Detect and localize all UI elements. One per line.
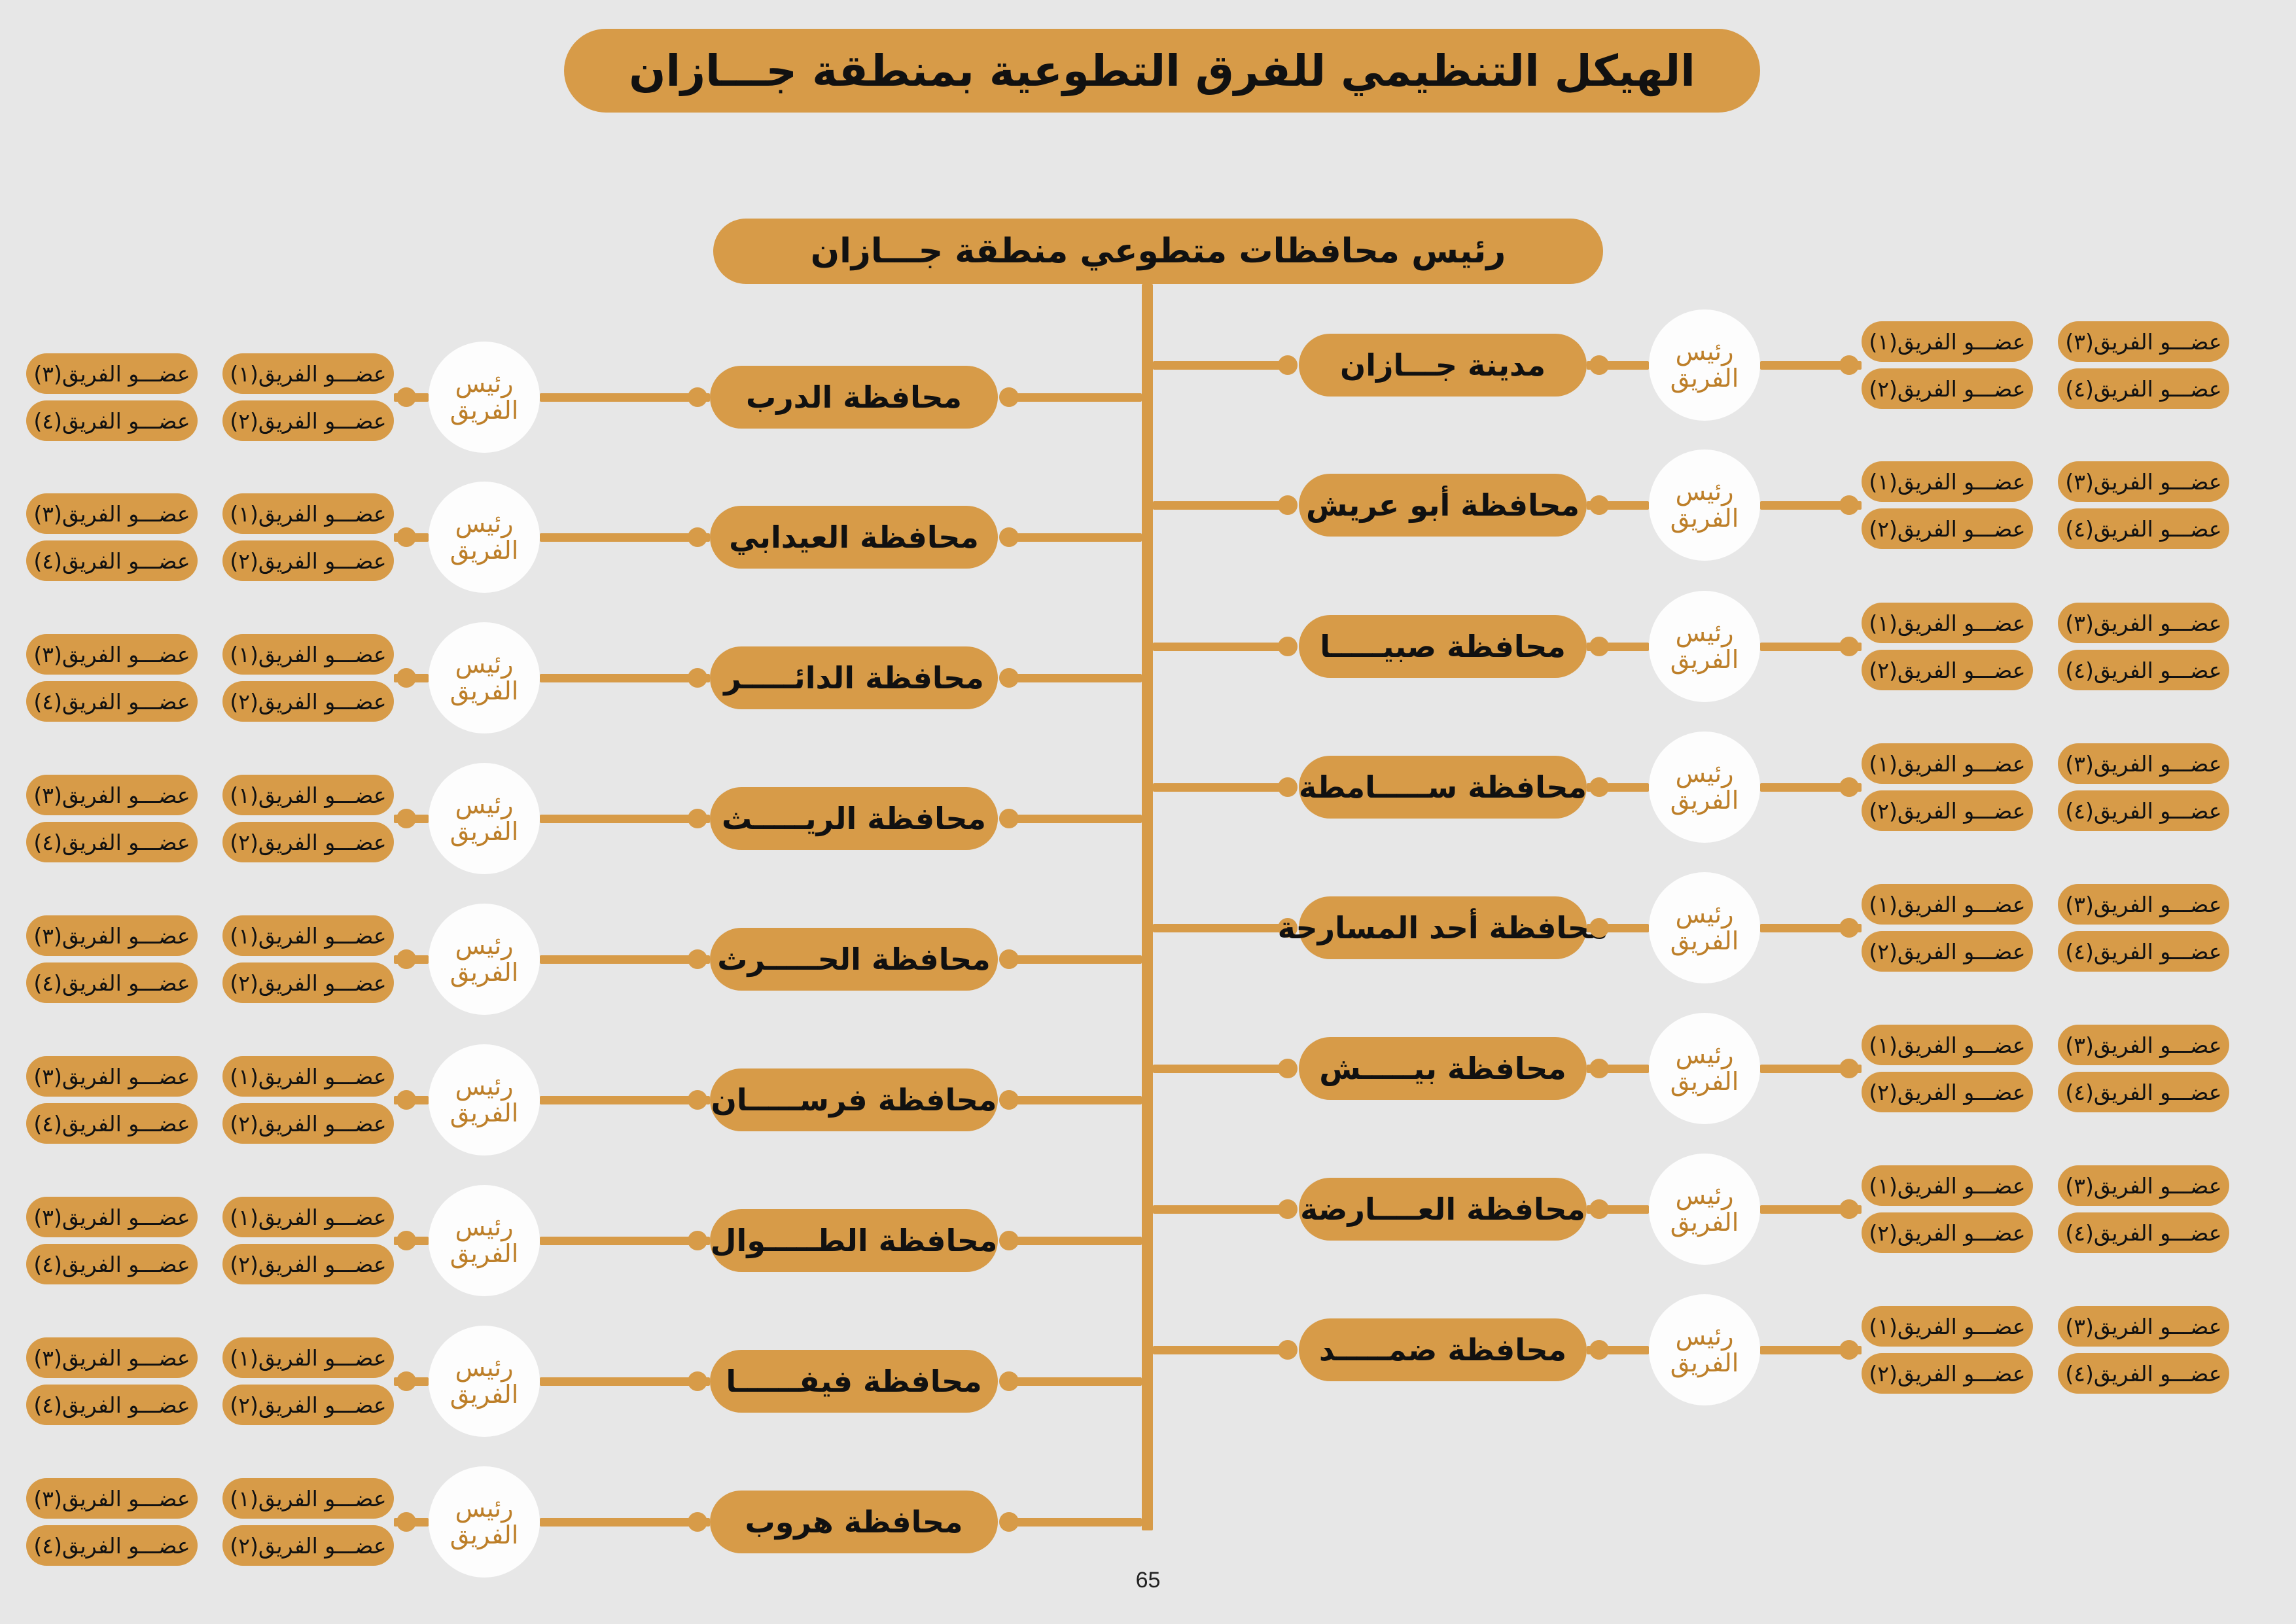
member-pill-left-5-2[interactable]: عضـــو الفريق(٢) (222, 1103, 394, 1144)
member-dot-right-3 (1839, 777, 1859, 797)
leader-label-line2: الفريق (450, 959, 519, 986)
member-pill-right-2-3[interactable]: عضـــو الفريق(٣) (2058, 603, 2229, 643)
leader-label-line1: رئيس (455, 1214, 514, 1241)
leader-dot-left-1 (688, 527, 707, 547)
member-pill-right-1-2[interactable]: عضـــو الفريق(٢) (1862, 508, 2033, 549)
leader-line-left-1 (540, 533, 710, 542)
page-title: الهيكل التنظيمي للفرق التطوعية بمنطقة جـ… (564, 29, 1760, 113)
member-pill-left-0-3[interactable]: عضـــو الفريق(٣) (26, 353, 198, 394)
branch-line-left-6 (1010, 1237, 1142, 1245)
member-pill-left-7-1[interactable]: عضـــو الفريق(١) (222, 1337, 394, 1378)
leader-circle-left-1[interactable]: رئيسالفريق (429, 482, 540, 593)
member-pill-right-0-3[interactable]: عضـــو الفريق(٣) (2058, 321, 2229, 362)
leader-dot-left-8 (688, 1512, 707, 1532)
member-dot-left-2 (397, 668, 416, 688)
leader-circle-left-7[interactable]: رئيسالفريق (429, 1326, 540, 1437)
member-pill-left-5-4[interactable]: عضـــو الفريق(٤) (26, 1103, 198, 1144)
leader-label-line2: الفريق (450, 1381, 519, 1408)
governorate-pill-left-4[interactable]: محافظة الحـــــرث (710, 928, 998, 991)
leader-line-left-5 (540, 1096, 710, 1104)
leader-circle-left-2[interactable]: رئيسالفريق (429, 622, 540, 733)
governorate-pill-right-7[interactable]: محافظة ضمـــــد (1299, 1318, 1587, 1381)
leader-label-line1: رئيس (455, 1073, 514, 1100)
branch-line-left-8 (1010, 1518, 1142, 1527)
member-pill-right-6-2[interactable]: عضـــو الفريق(٢) (1862, 1212, 2033, 1253)
leader-label-line2: الفريق (1670, 928, 1739, 955)
governorate-pill-right-2[interactable]: محافظة صبيـــــا (1299, 615, 1587, 678)
member-pill-left-8-1[interactable]: عضـــو الفريق(١) (222, 1478, 394, 1519)
leader-label-line2: الفريق (450, 1100, 519, 1127)
leader-label-line2: الفريق (450, 537, 519, 564)
member-pill-left-1-1[interactable]: عضـــو الفريق(١) (222, 493, 394, 534)
member-dot-left-5 (397, 1090, 416, 1110)
member-dot-right-1 (1839, 495, 1859, 515)
member-pill-right-5-3[interactable]: عضـــو الفريق(٣) (2058, 1025, 2229, 1065)
member-pill-right-1-1[interactable]: عضـــو الفريق(١) (1862, 461, 2033, 502)
branch-line-left-3 (1010, 815, 1142, 823)
branch-line-right-1 (1153, 501, 1287, 510)
governorate-pill-right-6[interactable]: محافظة العــــارضة (1299, 1178, 1587, 1241)
governorate-pill-left-3[interactable]: محافظة الريـــــث (710, 787, 998, 850)
org-chart-canvas: الهيكل التنظيمي للفرق التطوعية بمنطقة جـ… (0, 0, 2296, 1624)
member-pill-left-2-2[interactable]: عضـــو الفريق(٢) (222, 681, 394, 722)
member-pill-left-2-3[interactable]: عضـــو الفريق(٣) (26, 634, 198, 675)
leader-label-line2: الفريق (450, 1241, 519, 1267)
leader-label-line1: رئيس (1676, 478, 1734, 505)
member-pill-left-4-3[interactable]: عضـــو الفريق(٣) (26, 915, 198, 956)
member-dot-right-0 (1839, 355, 1859, 375)
leader-circle-right-6[interactable]: رئيسالفريق (1649, 1154, 1760, 1265)
governorate-pill-left-0[interactable]: محافظة الدرب (710, 366, 998, 429)
governorate-pill-right-3[interactable]: محافظة ســـــامطة (1299, 756, 1587, 819)
leader-dot-left-7 (688, 1371, 707, 1391)
member-pill-left-3-4[interactable]: عضـــو الفريق(٤) (26, 822, 198, 862)
leader-circle-left-4[interactable]: رئيسالفريق (429, 904, 540, 1015)
branch-dot-right-0 (1278, 355, 1298, 375)
branch-line-right-4 (1153, 924, 1287, 932)
leader-label-line1: رئيس (1676, 1323, 1734, 1350)
leader-line-left-2 (540, 674, 710, 682)
member-dot-left-1 (397, 527, 416, 547)
member-pill-right-6-3[interactable]: عضـــو الفريق(٣) (2058, 1165, 2229, 1206)
member-dot-left-0 (397, 387, 416, 407)
leader-line-left-0 (540, 393, 710, 402)
leader-dot-left-4 (688, 949, 707, 969)
branch-dot-right-3 (1278, 777, 1298, 797)
member-pill-right-3-4[interactable]: عضـــو الفريق(٤) (2058, 790, 2229, 831)
branch-dot-right-2 (1278, 637, 1298, 656)
governorate-pill-right-0[interactable]: مدينة جـــازان (1299, 334, 1587, 397)
leader-line-left-4 (540, 955, 710, 964)
member-pill-left-1-3[interactable]: عضـــو الفريق(٣) (26, 493, 198, 534)
member-pill-left-6-4[interactable]: عضـــو الفريق(٤) (26, 1244, 198, 1284)
member-dot-right-4 (1839, 918, 1859, 938)
leader-circle-right-5[interactable]: رئيسالفريق (1649, 1013, 1760, 1124)
member-pill-right-4-4[interactable]: عضـــو الفريق(٤) (2058, 931, 2229, 972)
leader-label-line1: رئيس (455, 370, 514, 397)
branch-dot-left-6 (999, 1231, 1019, 1250)
member-pill-left-0-2[interactable]: عضـــو الفريق(٢) (222, 400, 394, 441)
leader-label-line1: رئيس (1676, 338, 1734, 365)
leader-circle-right-7[interactable]: رئيسالفريق (1649, 1294, 1760, 1405)
member-pill-right-0-1[interactable]: عضـــو الفريق(١) (1862, 321, 2033, 362)
leader-circle-left-5[interactable]: رئيسالفريق (429, 1044, 540, 1156)
branch-line-left-5 (1010, 1096, 1142, 1104)
member-pill-right-7-1[interactable]: عضـــو الفريق(١) (1862, 1306, 2033, 1347)
member-pill-left-1-4[interactable]: عضـــو الفريق(٤) (26, 540, 198, 581)
member-pill-left-0-4[interactable]: عضـــو الفريق(٤) (26, 400, 198, 441)
branch-line-right-5 (1153, 1065, 1287, 1073)
leader-dot-right-5 (1589, 1059, 1609, 1078)
branch-line-left-2 (1010, 674, 1142, 682)
leader-circle-right-2[interactable]: رئيسالفريق (1649, 591, 1760, 702)
member-dot-right-6 (1839, 1199, 1859, 1219)
leader-label-line2: الفريق (1670, 1068, 1739, 1095)
governorate-pill-left-6[interactable]: محافظة الطـــــوال (710, 1209, 998, 1272)
member-pill-right-6-1[interactable]: عضـــو الفريق(١) (1862, 1165, 2033, 1206)
leader-label-line2: الفريق (450, 819, 519, 845)
branch-line-right-2 (1153, 643, 1287, 651)
governorate-pill-left-5[interactable]: محافظة فرســـــان (710, 1068, 998, 1131)
leader-dot-right-7 (1589, 1340, 1609, 1360)
leader-label-line2: الفريق (1670, 1209, 1739, 1236)
leader-dot-left-3 (688, 809, 707, 828)
leader-label-line2: الفريق (1670, 1350, 1739, 1377)
spine-connector (1142, 284, 1153, 1530)
branch-dot-left-1 (999, 527, 1019, 547)
member-pill-left-0-1[interactable]: عضـــو الفريق(١) (222, 353, 394, 394)
member-pill-left-8-2[interactable]: عضـــو الفريق(٢) (222, 1525, 394, 1566)
member-pill-left-7-3[interactable]: عضـــو الفريق(٣) (26, 1337, 198, 1378)
branch-dot-left-3 (999, 809, 1019, 828)
member-pill-right-1-3[interactable]: عضـــو الفريق(٣) (2058, 461, 2229, 502)
member-pill-right-7-3[interactable]: عضـــو الفريق(٣) (2058, 1306, 2229, 1347)
member-pill-right-7-2[interactable]: عضـــو الفريق(٢) (1862, 1353, 2033, 1394)
governorate-pill-left-7[interactable]: محافظة فيفــــــا (710, 1350, 998, 1413)
member-pill-left-6-1[interactable]: عضـــو الفريق(١) (222, 1197, 394, 1237)
branch-dot-right-1 (1278, 495, 1298, 515)
branch-dot-left-8 (999, 1512, 1019, 1532)
member-pill-left-4-4[interactable]: عضـــو الفريق(٤) (26, 962, 198, 1003)
member-dot-right-5 (1839, 1059, 1859, 1078)
leader-label-line2: الفريق (1670, 505, 1739, 532)
member-dot-left-7 (397, 1371, 416, 1391)
leader-label-line2: الفريق (1670, 787, 1739, 814)
member-pill-right-6-4[interactable]: عضـــو الفريق(٤) (2058, 1212, 2229, 1253)
leader-label-line1: رئيس (1676, 901, 1734, 928)
branch-dot-left-2 (999, 668, 1019, 688)
member-pill-right-4-1[interactable]: عضـــو الفريق(١) (1862, 884, 2033, 925)
member-pill-right-3-1[interactable]: عضـــو الفريق(١) (1862, 743, 2033, 784)
member-pill-right-3-3[interactable]: عضـــو الفريق(٣) (2058, 743, 2229, 784)
governorate-pill-left-8[interactable]: محافظة هروب (710, 1491, 998, 1553)
member-dot-right-7 (1839, 1340, 1859, 1360)
member-pill-left-6-2[interactable]: عضـــو الفريق(٢) (222, 1244, 394, 1284)
branch-dot-right-5 (1278, 1059, 1298, 1078)
member-pill-left-4-1[interactable]: عضـــو الفريق(١) (222, 915, 394, 956)
branch-line-left-0 (1010, 393, 1142, 402)
leader-label-line1: رئيس (1676, 1042, 1734, 1068)
member-dot-left-8 (397, 1512, 416, 1532)
branch-dot-left-5 (999, 1090, 1019, 1110)
member-dot-left-4 (397, 949, 416, 969)
leader-circle-right-4[interactable]: رئيسالفريق (1649, 872, 1760, 983)
member-pill-right-7-4[interactable]: عضـــو الفريق(٤) (2058, 1353, 2229, 1394)
member-pill-right-5-4[interactable]: عضـــو الفريق(٤) (2058, 1072, 2229, 1112)
branch-line-right-3 (1153, 783, 1287, 792)
member-pill-left-5-1[interactable]: عضـــو الفريق(١) (222, 1056, 394, 1097)
member-pill-right-2-4[interactable]: عضـــو الفريق(٤) (2058, 650, 2229, 690)
leader-label-line1: رئيس (455, 1495, 514, 1522)
member-pill-left-7-4[interactable]: عضـــو الفريق(٤) (26, 1385, 198, 1425)
member-pill-right-5-1[interactable]: عضـــو الفريق(١) (1862, 1025, 2033, 1065)
branch-dot-left-0 (999, 387, 1019, 407)
leader-label-line2: الفريق (1670, 646, 1739, 673)
member-pill-right-5-2[interactable]: عضـــو الفريق(٢) (1862, 1072, 2033, 1112)
branch-line-right-6 (1153, 1205, 1287, 1214)
leader-circle-left-0[interactable]: رئيسالفريق (429, 342, 540, 453)
leader-circle-left-8[interactable]: رئيسالفريق (429, 1466, 540, 1578)
branch-line-left-4 (1010, 955, 1142, 964)
member-pill-right-2-2[interactable]: عضـــو الفريق(٢) (1862, 650, 2033, 690)
member-dot-left-6 (397, 1231, 416, 1250)
leader-label-line1: رئيس (1676, 1182, 1734, 1209)
leader-label-line1: رئيس (455, 1354, 514, 1381)
member-pill-left-3-1[interactable]: عضـــو الفريق(١) (222, 775, 394, 815)
leader-label-line1: رئيس (455, 651, 514, 678)
branch-line-left-1 (1010, 533, 1142, 542)
governorate-pill-right-4[interactable]: محافظة أحد المسارحة (1299, 896, 1587, 959)
member-pill-right-0-2[interactable]: عضـــو الفريق(٢) (1862, 368, 2033, 409)
leader-label-line1: رئيس (455, 510, 514, 537)
member-pill-right-4-2[interactable]: عضـــو الفريق(٢) (1862, 931, 2033, 972)
member-pill-left-2-4[interactable]: عضـــو الفريق(٤) (26, 681, 198, 722)
member-dot-left-3 (397, 809, 416, 828)
member-pill-left-3-3[interactable]: عضـــو الفريق(٣) (26, 775, 198, 815)
governorate-pill-right-1[interactable]: محافظة أبو عريش (1299, 474, 1587, 537)
leader-dot-right-6 (1589, 1199, 1609, 1219)
governorate-pill-right-5[interactable]: محافظة بيـــــش (1299, 1037, 1587, 1100)
branch-line-right-7 (1153, 1346, 1287, 1354)
leader-dot-right-2 (1589, 637, 1609, 656)
leader-label-line2: الفريق (450, 397, 519, 424)
member-pill-right-1-4[interactable]: عضـــو الفريق(٤) (2058, 508, 2229, 549)
page-number: 65 (0, 1568, 2296, 1593)
member-dot-right-2 (1839, 637, 1859, 656)
leader-circle-right-3[interactable]: رئيسالفريق (1649, 732, 1760, 843)
leader-label-line1: رئيس (1676, 760, 1734, 787)
leader-label-line2: الفريق (450, 1522, 519, 1549)
leader-line-left-3 (540, 815, 710, 823)
leader-dot-left-6 (688, 1231, 707, 1250)
member-pill-left-3-2[interactable]: عضـــو الفريق(٢) (222, 822, 394, 862)
governorate-pill-left-2[interactable]: محافظة الدائـــــر (710, 646, 998, 709)
branch-dot-left-4 (999, 949, 1019, 969)
branch-dot-right-6 (1278, 1199, 1298, 1219)
leader-line-left-8 (540, 1518, 710, 1527)
member-pill-right-2-1[interactable]: عضـــو الفريق(١) (1862, 603, 2033, 643)
leader-dot-right-4 (1589, 918, 1609, 938)
branch-line-right-0 (1153, 361, 1287, 370)
leader-line-left-7 (540, 1377, 710, 1386)
governorate-pill-left-1[interactable]: محافظة العيدابي (710, 506, 998, 569)
member-pill-left-2-1[interactable]: عضـــو الفريق(١) (222, 634, 394, 675)
member-pill-right-0-4[interactable]: عضـــو الفريق(٤) (2058, 368, 2229, 409)
leader-dot-right-1 (1589, 495, 1609, 515)
leader-circle-right-1[interactable]: رئيسالفريق (1649, 450, 1760, 561)
leader-label-line2: الفريق (450, 678, 519, 705)
member-pill-left-1-2[interactable]: عضـــو الفريق(٢) (222, 540, 394, 581)
leader-circle-left-3[interactable]: رئيسالفريق (429, 763, 540, 874)
leader-dot-left-5 (688, 1090, 707, 1110)
leader-dot-right-0 (1589, 355, 1609, 375)
leader-circle-left-6[interactable]: رئيسالفريق (429, 1185, 540, 1296)
member-pill-right-4-3[interactable]: عضـــو الفريق(٣) (2058, 884, 2229, 925)
leader-label-line2: الفريق (1670, 365, 1739, 392)
branch-dot-left-7 (999, 1371, 1019, 1391)
branch-line-left-7 (1010, 1377, 1142, 1386)
leader-circle-right-0[interactable]: رئيسالفريق (1649, 309, 1760, 421)
leader-label-line1: رئيس (455, 792, 514, 819)
member-pill-left-4-2[interactable]: عضـــو الفريق(٢) (222, 962, 394, 1003)
member-pill-left-8-3[interactable]: عضـــو الفريق(٣) (26, 1478, 198, 1519)
root-node: رئيس محافظات متطوعي منطقة جـــازان (713, 219, 1603, 284)
member-pill-left-6-3[interactable]: عضـــو الفريق(٣) (26, 1197, 198, 1237)
member-pill-left-5-3[interactable]: عضـــو الفريق(٣) (26, 1056, 198, 1097)
leader-dot-left-2 (688, 668, 707, 688)
leader-dot-right-3 (1589, 777, 1609, 797)
branch-dot-right-7 (1278, 1340, 1298, 1360)
leader-label-line1: رئيس (455, 932, 514, 959)
leader-dot-left-0 (688, 387, 707, 407)
member-pill-left-7-2[interactable]: عضـــو الفريق(٢) (222, 1385, 394, 1425)
member-pill-left-8-4[interactable]: عضـــو الفريق(٤) (26, 1525, 198, 1566)
leader-label-line1: رئيس (1676, 620, 1734, 646)
member-pill-right-3-2[interactable]: عضـــو الفريق(٢) (1862, 790, 2033, 831)
leader-line-left-6 (540, 1237, 710, 1245)
